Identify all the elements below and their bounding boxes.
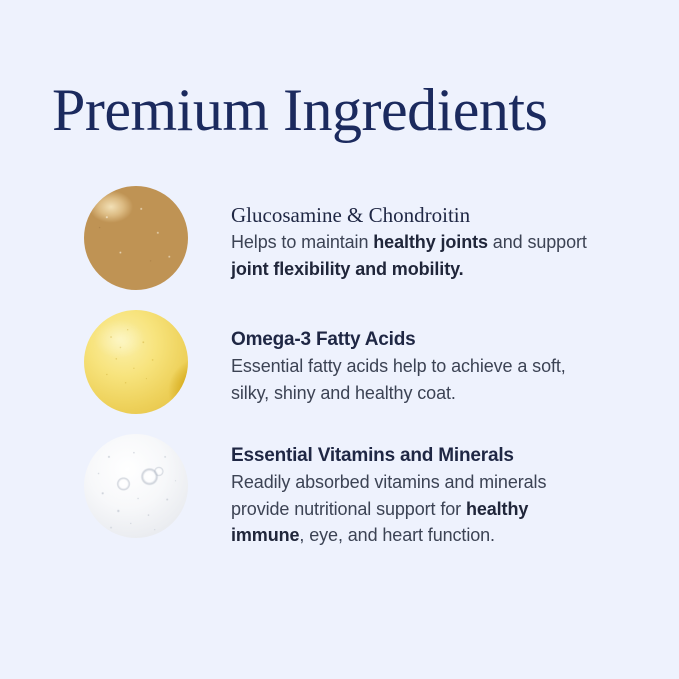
ingredient-description: Helps to maintain healthy joints and sup… — [231, 229, 603, 282]
page-title: Premium Ingredients — [52, 78, 547, 142]
ingredient-text-block: Glucosamine & Chondroitin Helps to maint… — [231, 186, 603, 282]
ingredient-item-essential-vitamins-and-minerals: Essential Vitamins and Minerals Readily … — [0, 434, 679, 549]
ingredient-heading: Essential Vitamins and Minerals — [231, 442, 603, 469]
ingredient-list: Glucosamine & Chondroitin Helps to maint… — [0, 186, 679, 549]
ingredient-description: Readily absorbed vitamins and minerals p… — [231, 469, 603, 549]
resin-granules-swatch-icon — [84, 186, 188, 290]
ingredient-heading: Glucosamine & Chondroitin — [231, 202, 603, 229]
ingredients-infographic: Premium Ingredients Glucosamine & Chondr… — [0, 0, 679, 679]
ingredient-heading: Omega-3 Fatty Acids — [231, 326, 603, 353]
ingredient-swatch-wrapper — [84, 434, 188, 538]
ingredient-text-block: Omega-3 Fatty Acids Essential fatty acid… — [231, 310, 603, 406]
ingredient-item-glucosamine-chondroitin: Glucosamine & Chondroitin Helps to maint… — [0, 186, 679, 290]
ingredient-swatch-wrapper — [84, 310, 188, 414]
ingredient-description: Essential fatty acids help to achieve a … — [231, 353, 603, 406]
golden-oil-swatch-icon — [84, 310, 188, 414]
ingredient-item-omega-3-fatty-acids: Omega-3 Fatty Acids Essential fatty acid… — [0, 310, 679, 414]
clear-gel-bubbles-swatch-icon — [84, 434, 188, 538]
ingredient-text-block: Essential Vitamins and Minerals Readily … — [231, 434, 603, 549]
ingredient-swatch-wrapper — [84, 186, 188, 290]
